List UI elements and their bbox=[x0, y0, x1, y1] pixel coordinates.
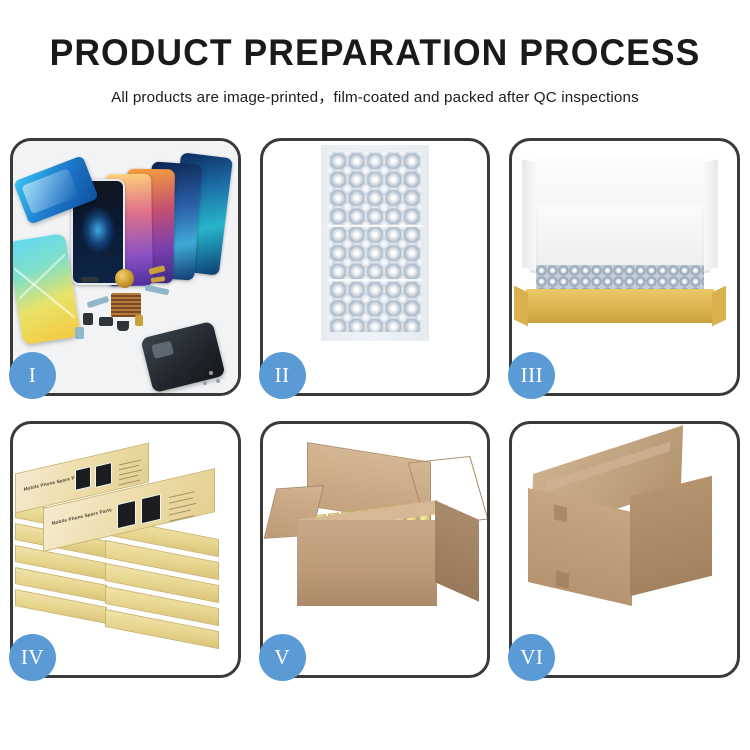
carton-tab-lower bbox=[556, 570, 569, 588]
bubble-wrap-seam-1 bbox=[327, 225, 423, 227]
grid-plate-part bbox=[111, 293, 141, 317]
screw-part-1 bbox=[209, 371, 213, 375]
step-panel-2: II bbox=[260, 138, 491, 396]
copper-coil-part bbox=[115, 269, 134, 288]
step-badge-1: I bbox=[9, 352, 56, 399]
screw-part-3 bbox=[203, 381, 207, 385]
sim-tray-part bbox=[75, 327, 84, 339]
step-panel-4: Mobile Phone Spare Parts Mobile Phone Sp… bbox=[10, 421, 241, 679]
step-badge-2: II bbox=[259, 352, 306, 399]
step-image-6 bbox=[512, 424, 737, 676]
bubble-wrap-bubbles-offset bbox=[329, 152, 421, 332]
step-image-3 bbox=[512, 141, 737, 393]
step-badge-3: III bbox=[508, 352, 555, 399]
step-panel-1: I bbox=[10, 138, 241, 396]
bubble-wrap-seam-2 bbox=[327, 279, 423, 281]
box-screen-image-back-2 bbox=[95, 462, 112, 488]
vibrator-part bbox=[135, 315, 143, 326]
box-screen-image-front-2 bbox=[141, 493, 161, 524]
process-step-grid: I II III bbox=[10, 138, 740, 678]
screw-part-2 bbox=[216, 379, 220, 383]
mailer-box-front-panel bbox=[526, 289, 714, 323]
step-panel-3: III bbox=[509, 138, 740, 396]
product-preparation-infographic: PRODUCT PREPARATION PROCESS All products… bbox=[0, 0, 750, 750]
earpiece-part bbox=[117, 321, 129, 331]
box-screen-image-front-1 bbox=[117, 499, 136, 528]
header: PRODUCT PREPARATION PROCESS All products… bbox=[0, 0, 750, 107]
step-badge-5: V bbox=[259, 634, 306, 681]
step-badge-4: IV bbox=[9, 634, 56, 681]
button-part bbox=[83, 313, 93, 325]
step-image-5 bbox=[263, 424, 488, 676]
step-badge-6: VI bbox=[508, 634, 555, 681]
step-panel-6: VI bbox=[509, 421, 740, 679]
step-image-4: Mobile Phone Spare Parts Mobile Phone Sp… bbox=[13, 424, 238, 676]
step-image-1 bbox=[13, 141, 238, 393]
step-image-2 bbox=[263, 141, 488, 393]
step-panel-5: V bbox=[260, 421, 491, 679]
carton-tab-upper bbox=[554, 504, 567, 522]
box-screen-image-back-1 bbox=[75, 466, 91, 491]
sealed-carton-side-face bbox=[630, 475, 712, 595]
page-title: PRODUCT PREPARATION PROCESS bbox=[15, 34, 735, 73]
camera-module-part bbox=[99, 317, 113, 326]
carton-front-face bbox=[297, 520, 437, 606]
foam-insert bbox=[538, 205, 702, 267]
speaker-mesh-part bbox=[81, 277, 99, 282]
page-subtitle: All products are image-printed，film-coat… bbox=[0, 85, 750, 107]
